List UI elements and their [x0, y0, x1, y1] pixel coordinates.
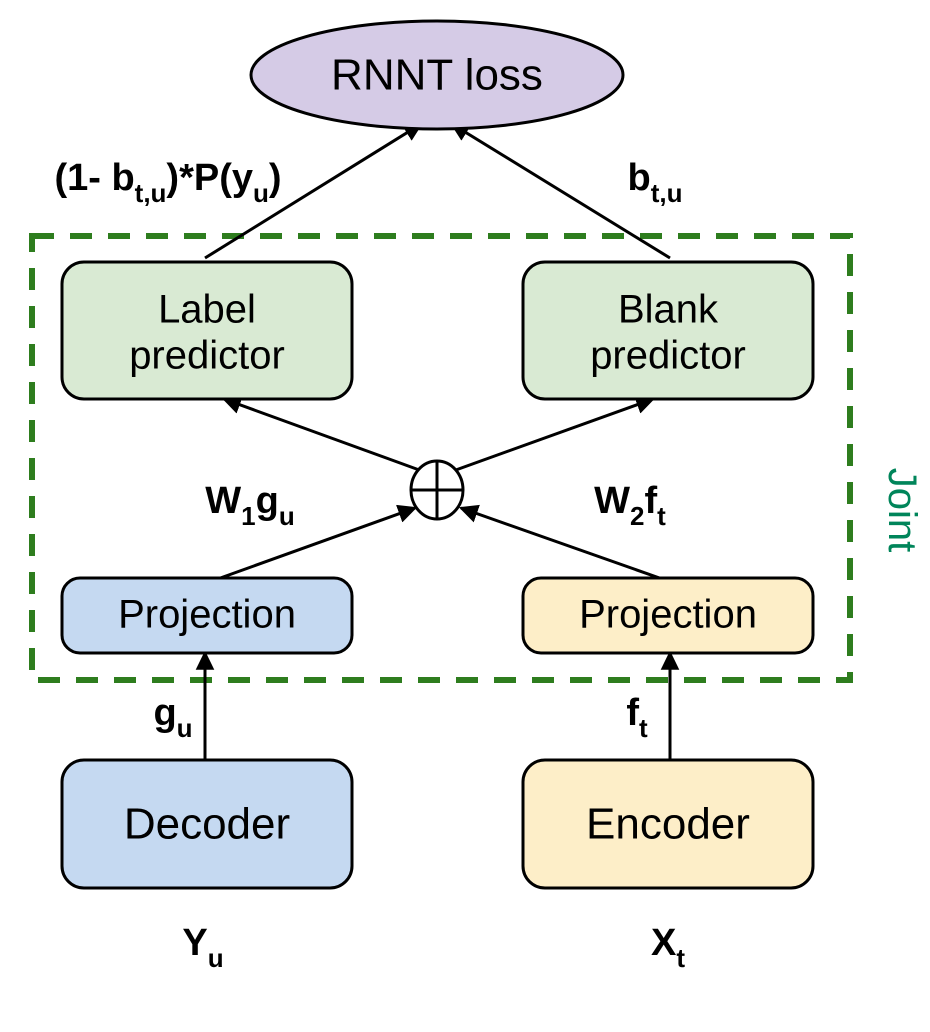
edge-label-part-sub2: u	[253, 178, 269, 208]
joint-group-label: Joint	[880, 468, 924, 553]
blank-predictor-label-line1: Blank	[618, 288, 719, 332]
node-blank-predictor[interactable]: Blank predictor	[523, 262, 813, 399]
w2-sub: 2	[630, 501, 644, 531]
edge-label-left-projection-to-combine: W1gu	[205, 480, 294, 531]
gu-main: g	[256, 480, 279, 522]
node-encoder[interactable]: Encoder	[523, 760, 813, 888]
left-projection-label: Projection	[118, 593, 296, 637]
edge-label-right-projection-to-combine: W2ft	[594, 480, 666, 531]
plus-circle-icon	[411, 461, 463, 519]
edge-label-decoder-to-projection: gu	[153, 692, 192, 743]
decoder-label: Decoder	[124, 800, 290, 849]
edge-combine-to-label-predictor	[224, 399, 422, 471]
edge-label-label-to-loss: (1- bt,u)*P(yu)	[54, 157, 281, 208]
io-label-decoder-input: Yu	[182, 922, 223, 973]
ft-main: f	[645, 480, 658, 522]
node-left-projection[interactable]: Projection	[62, 578, 352, 653]
edge-combine-to-blank-predictor	[453, 399, 653, 471]
edge-label-part-3: )	[269, 157, 282, 199]
rnnt-architecture-diagram: RNNT loss Label predictor Blank predicto…	[0, 0, 930, 1032]
xt-main: X	[651, 922, 677, 964]
edge-label-part-2: )*P(y	[166, 157, 253, 199]
joint-group-label-group: Joint	[880, 468, 924, 553]
rnnt-loss-label: RNNT loss	[331, 51, 543, 100]
edge-label-part-sub1: t,u	[135, 178, 167, 208]
label-predictor-label-line2: predictor	[129, 334, 285, 378]
node-label-predictor[interactable]: Label predictor	[62, 262, 352, 399]
encoder-label: Encoder	[586, 800, 750, 849]
w1-sub: 1	[241, 501, 255, 531]
xt-sub: t	[676, 943, 685, 973]
edge-label-blank-main: b	[628, 157, 651, 199]
edge-label-blank-to-loss: bt,u	[628, 157, 683, 208]
node-decoder[interactable]: Decoder	[62, 760, 352, 888]
io-label-encoder-input: Xt	[651, 922, 685, 973]
yu-main: Y	[182, 922, 207, 964]
edge-label-part-1: (1- b	[54, 157, 134, 199]
right-projection-label: Projection	[579, 593, 757, 637]
node-right-projection[interactable]: Projection	[523, 578, 813, 653]
f-main: f	[626, 692, 639, 734]
blank-predictor-label-line2: predictor	[590, 334, 746, 378]
edge-label-encoder-to-projection: ft	[626, 692, 648, 743]
gu-sub: u	[279, 501, 295, 531]
label-predictor-label-line1: Label	[158, 288, 256, 332]
g-sub: u	[177, 713, 193, 743]
diagram-canvas: RNNT loss Label predictor Blank predicto…	[0, 0, 930, 1032]
yu-sub: u	[208, 943, 224, 973]
w1-main: W	[205, 480, 241, 522]
f-sub: t	[639, 713, 648, 743]
w2-main: W	[594, 480, 630, 522]
edge-label-blank-sub: t,u	[651, 178, 683, 208]
node-rnnt-loss[interactable]: RNNT loss	[251, 21, 623, 129]
ft-sub: t	[657, 501, 666, 531]
g-main: g	[153, 692, 176, 734]
